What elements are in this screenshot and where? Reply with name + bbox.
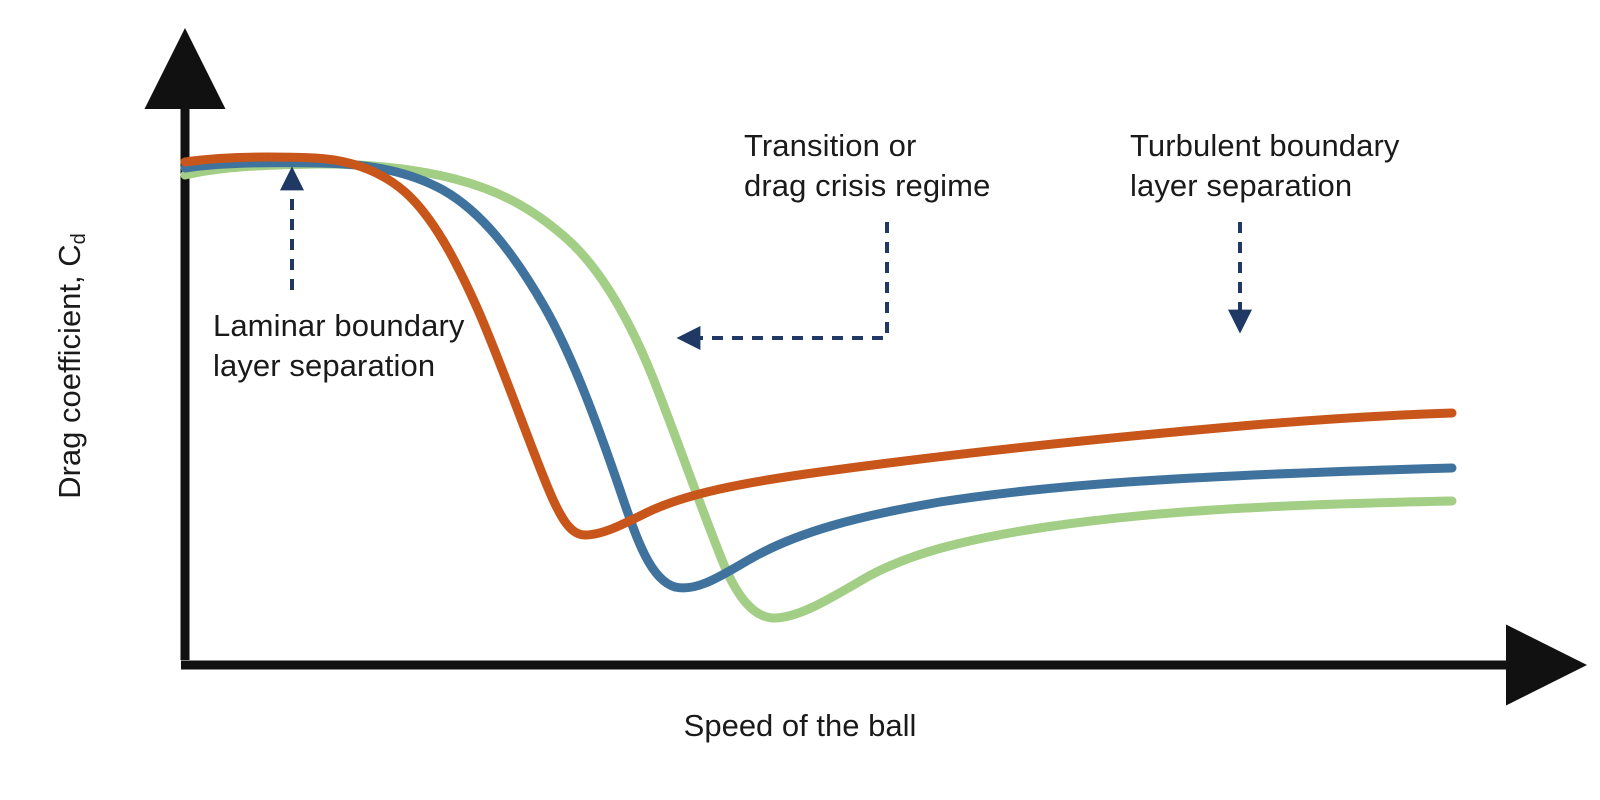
chart-figure: Laminar boundary layer separation Transi…	[0, 0, 1600, 800]
chart-canvas	[0, 0, 1600, 800]
y-axis-label-subscript: d	[68, 233, 90, 244]
annotation-laminar-boundary-layer-separation: Laminar boundary layer separation	[213, 306, 543, 387]
annotation-turbulent-boundary-layer-separation: Turbulent boundary layer separation	[1130, 126, 1470, 207]
annotation-transition-drag-crisis-regime: Transition or drag crisis regime	[744, 126, 1074, 207]
x-axis-label: Speed of the ball	[0, 708, 1600, 744]
y-axis-label: Drag coefficient, Cd	[52, 206, 88, 526]
transition-arrow-line	[682, 222, 887, 338]
series-line-green	[185, 164, 1452, 618]
y-axis-label-main: Drag coefficient, C	[52, 244, 87, 498]
